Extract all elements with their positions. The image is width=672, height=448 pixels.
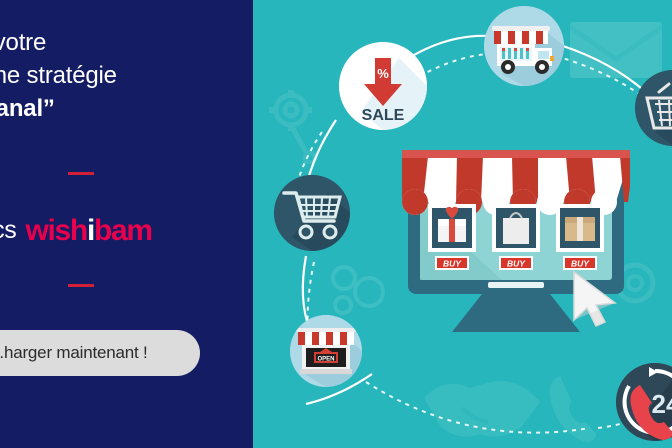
support-hours-label: 24 [652, 389, 672, 419]
storefront-badge: OPEN [290, 315, 362, 387]
headline-line-3: Omnicanal” [0, 92, 252, 125]
product-card-bag [492, 204, 540, 252]
buy-button-2[interactable]: BUY [499, 256, 533, 270]
headline-line-1: ...arez votre [0, 26, 252, 59]
sale-badge-label: SALE [362, 107, 405, 124]
svg-text:%: % [377, 66, 389, 81]
left-navy-panel: ...arez votre ...u à une stratégie Omnic… [0, 0, 253, 448]
divider-top [68, 172, 94, 175]
buy-button-1[interactable]: BUY [435, 256, 469, 270]
wishibam-logo-part-2: bam [94, 214, 152, 247]
headline-emphasis: Omnicanal [0, 95, 43, 122]
subtitle-text: blancs [0, 216, 16, 245]
product-card-parcel [556, 204, 604, 252]
sale-badge: % SALE [339, 42, 427, 130]
buy-button-2-label: BUY [507, 259, 526, 269]
wishibam-logo-part-1: wish [25, 214, 86, 247]
headline-quote-mark: ” [43, 95, 55, 122]
headline-line-2: ...u à une stratégie [0, 59, 252, 92]
storefront-open-label: OPEN [317, 357, 334, 363]
divider-bottom [68, 284, 94, 287]
page-headline: ...arez votre ...u à une stratégie Omnic… [0, 26, 252, 125]
buy-button-3-label: BUY [571, 259, 590, 269]
subtitle-row: blancs wishibam [0, 212, 266, 246]
wishibam-logo-i: i [87, 214, 94, 247]
banner-canvas: % SALE [0, 0, 672, 448]
delivery-truck-badge [484, 6, 564, 86]
mouse-pointer-icon [570, 270, 622, 328]
buy-button-3[interactable]: BUY [563, 256, 597, 270]
product-card-gift [428, 204, 476, 252]
buy-button-1-label: BUY [443, 259, 462, 269]
wishibam-logo: wishibam [25, 214, 151, 248]
shopping-cart-badge [274, 175, 350, 251]
download-now-button[interactable]: ...harger maintenant ! [0, 330, 200, 376]
